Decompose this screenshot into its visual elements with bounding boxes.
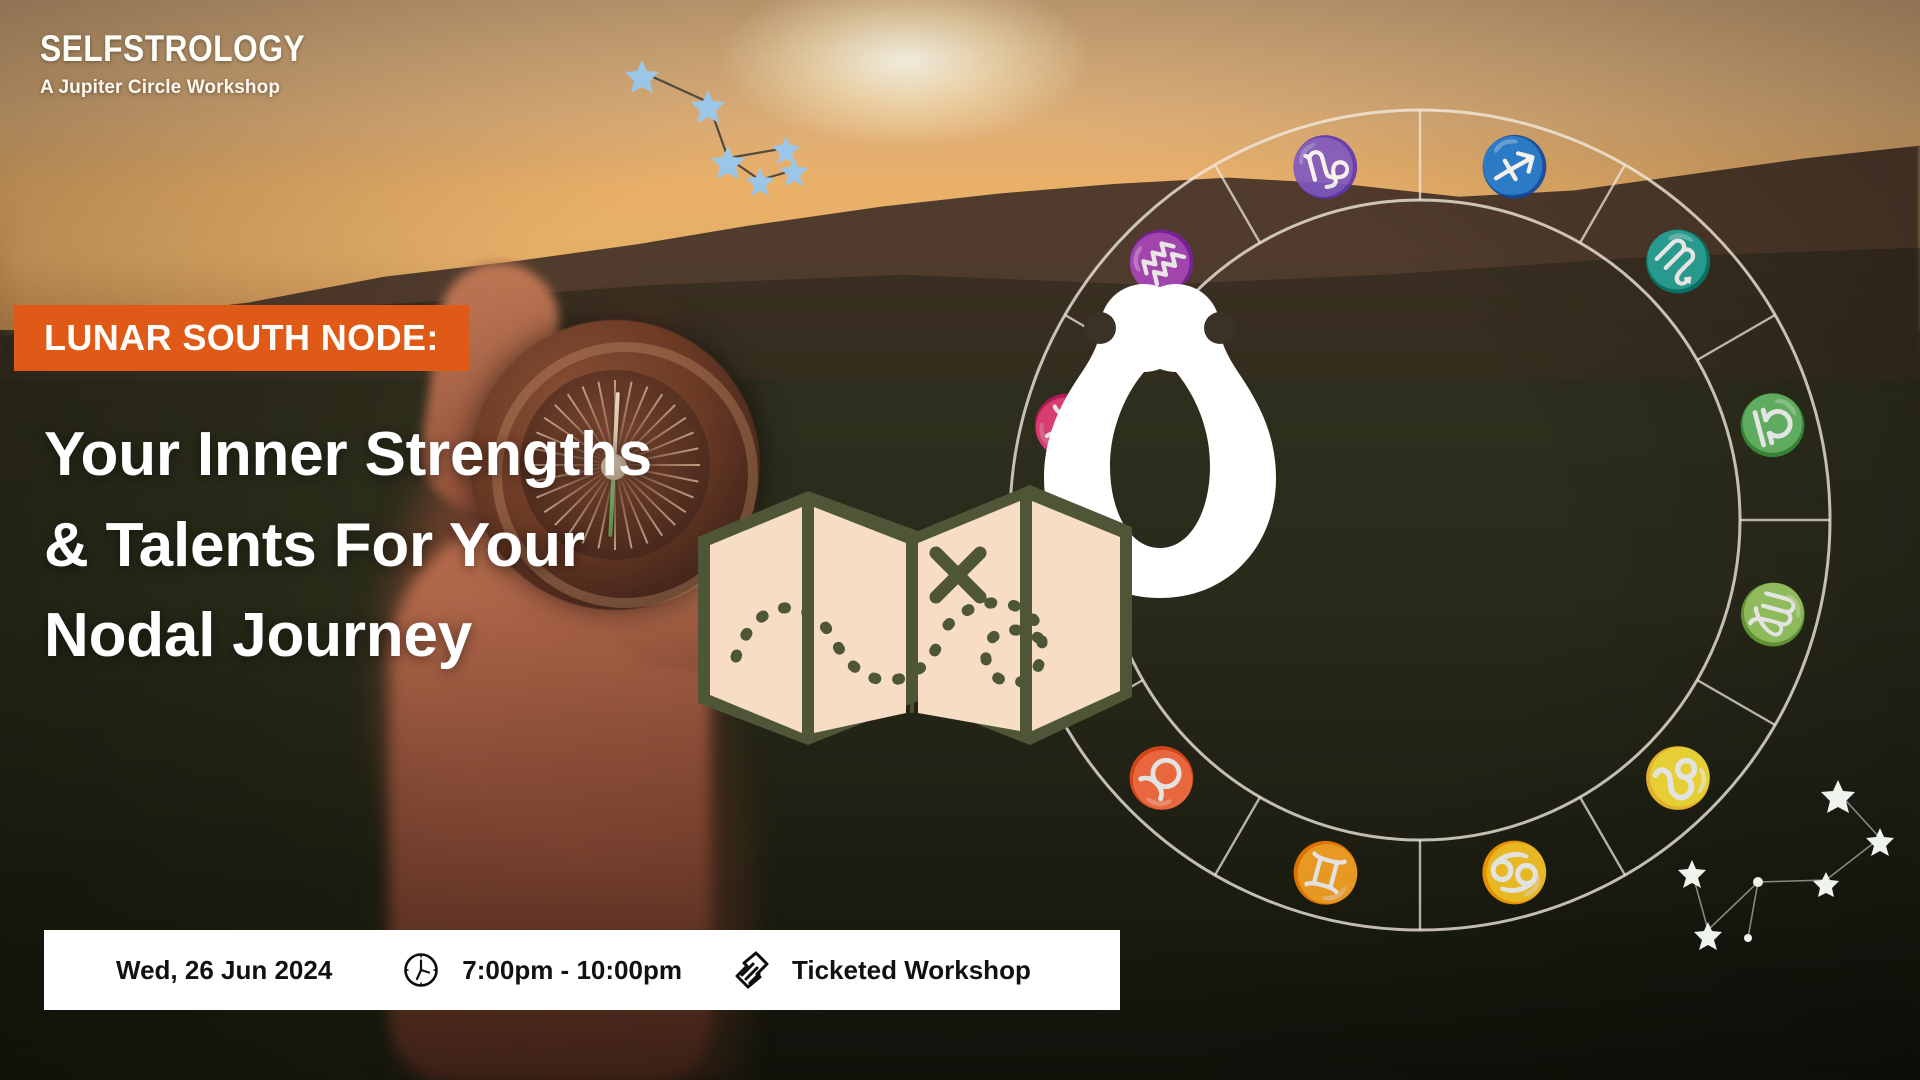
- brand-logo: SELFSTROLOGY A Jupiter Circle Workshop: [40, 28, 348, 99]
- zodiac-sector-divider: [1215, 165, 1260, 243]
- page-title: Your Inner Strengths & Talents For Your …: [44, 410, 884, 682]
- zodiac-sector-divider: [1215, 797, 1260, 875]
- event-type-item: Ticketed Workshop: [726, 950, 1031, 990]
- zodiac-glyph-virgo: ♍: [1732, 571, 1814, 658]
- brand-name: SELFSTROLOGY: [40, 28, 305, 70]
- constellation-bottom-right: [1630, 730, 1920, 960]
- constellation-top: [610, 30, 880, 230]
- clock-icon: [402, 951, 440, 989]
- brand-tagline: A Jupiter Circle Workshop: [40, 77, 348, 99]
- zodiac-sector-divider: [1580, 165, 1625, 243]
- zodiac-glyph-capricorn: ♑: [1282, 126, 1369, 208]
- event-type: Ticketed Workshop: [792, 955, 1031, 986]
- zodiac-glyph-gemini: ♊: [1282, 832, 1369, 914]
- zodiac-glyph-cancer: ♋: [1471, 832, 1558, 914]
- headline-line-1: Your Inner Strengths: [44, 410, 884, 501]
- zodiac-sector-divider: [1697, 315, 1775, 360]
- event-time-item: 7:00pm - 10:00pm: [402, 951, 682, 989]
- event-poster: ♐♏♎♍♌♋♊♉♈♓♒♑: [0, 0, 1920, 1080]
- event-date: Wed, 26 Jun 2024: [116, 955, 332, 986]
- zodiac-glyph-sagittarius: ♐: [1471, 126, 1558, 208]
- eyebrow-banner: LUNAR SOUTH NODE:: [14, 305, 469, 371]
- ticket-icon: [726, 950, 770, 990]
- zodiac-glyph-libra: ♎: [1732, 382, 1814, 469]
- headline-line-2: & Talents For Your: [44, 501, 884, 592]
- zodiac-sector-divider: [1580, 797, 1625, 875]
- eyebrow-label: LUNAR SOUTH NODE:: [44, 317, 439, 359]
- headline-line-3: Nodal Journey: [44, 591, 884, 682]
- zodiac-sector-divider: [1697, 680, 1775, 725]
- event-date-item: Wed, 26 Jun 2024: [116, 955, 332, 986]
- event-details-bar: Wed, 26 Jun 2024: [44, 930, 1120, 1010]
- event-time: 7:00pm - 10:00pm: [462, 955, 682, 986]
- zodiac-glyph-scorpio: ♏: [1630, 213, 1728, 311]
